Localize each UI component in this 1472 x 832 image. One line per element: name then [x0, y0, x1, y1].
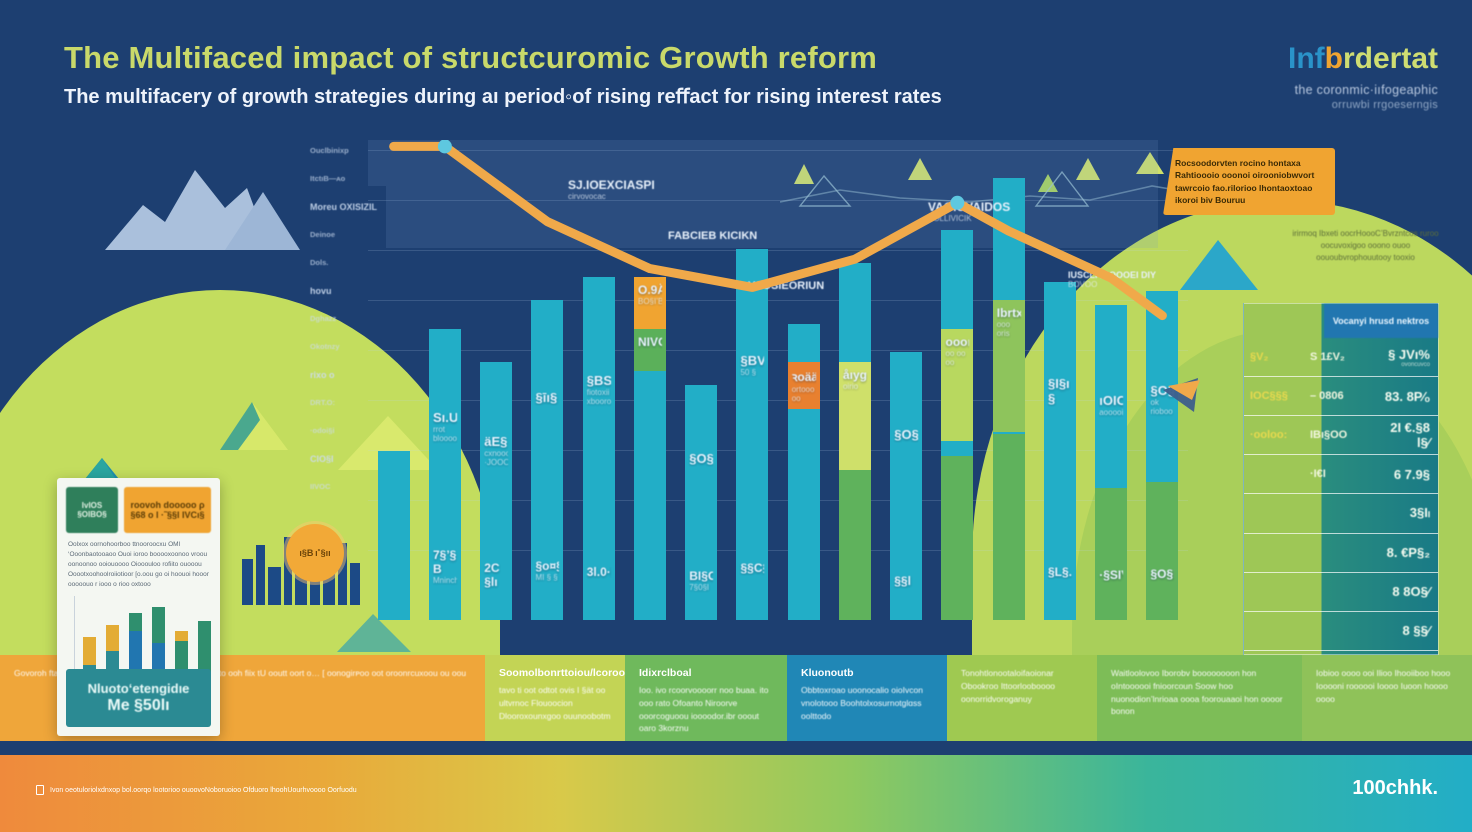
- table-cell-3: 8 §§⁄: [1374, 623, 1438, 638]
- table-cell-1: ·ooloo:: [1244, 429, 1310, 441]
- trend-marker: [950, 196, 964, 210]
- callout-text: Rocsoodorvten rocino hontaxa Rahtioooio …: [1175, 158, 1314, 205]
- flag-mountain-icon: [210, 380, 330, 460]
- trend-line-series: [368, 60, 1188, 620]
- panel-green3[interactable]: Iobioo oooo ooi Ilioo Ihooiiboo hooo Ioo…: [1302, 655, 1472, 755]
- panel-body: Tonohtlonootaloifaoionar Obookroo Ittoor…: [961, 667, 1083, 705]
- card-badge-primary: IvIOS §OIBO§: [66, 487, 118, 533]
- y-axis-label: CIO§I: [310, 454, 334, 464]
- mini-bar: [106, 625, 119, 673]
- y-axis-label: Ouclbinixp: [310, 146, 349, 155]
- table-cell-3: 3§Iₗ: [1374, 505, 1438, 521]
- y-axis-label: ·odoi§i: [310, 426, 335, 435]
- card-description: Oolxox oornohoorboo ttnooroocxu OMl ‘Ooo…: [68, 540, 209, 590]
- table-cell-2: ·I€I: [1310, 468, 1374, 480]
- table-cell-1: §V₂: [1244, 351, 1310, 363]
- table-row[interactable]: ·I€I6 7.9§: [1244, 455, 1438, 494]
- card-footer-stat: Nluoto‘etengidıe Me §50lı: [66, 669, 211, 727]
- mini-bar: [129, 613, 142, 673]
- logo-wordmark: Infbrdertat: [1288, 44, 1438, 74]
- trend-marker: [438, 139, 452, 153]
- table-row[interactable]: 8. €P§₂: [1244, 534, 1438, 573]
- document-icon: [36, 785, 44, 795]
- footer-divider: [0, 741, 1472, 755]
- panel-yellow[interactable]: Soomolbonrttoiou/lcorooutavo ti oot odto…: [485, 655, 625, 755]
- panel-title: Soomolbonrttoiou/lcoroou: [499, 667, 611, 679]
- y-axis-label: rixo o: [310, 370, 335, 380]
- footer-source: Ivon oeotuloriolxdnxop bol.oorqo lootori…: [36, 785, 357, 795]
- table-cell-3: 6 7.9§: [1374, 467, 1438, 482]
- table-row[interactable]: ·ooloo:IBı§OO2I €.§8 l§⁄: [1244, 416, 1438, 455]
- y-axis-label: Okotnzy: [310, 342, 340, 351]
- panel-body: tavo ti oot odtot ovis I §ät oo ultvrnoc…: [499, 684, 611, 722]
- card-footer-line2: Me §50lı: [107, 697, 169, 715]
- logo-tagline-2: orruwbi rrgoeserngis: [1288, 99, 1438, 111]
- mini-bar: [198, 621, 211, 673]
- y-axis-label: Deinoe: [310, 230, 335, 239]
- right-note: irirmoq Ibxeti oocrHoooC’Bvrzntcos ruroo…: [1288, 228, 1443, 264]
- stat-card[interactable]: IvIOS §OIBO§ roovoh dooooo ρ §68 ο l ·˜§…: [57, 478, 220, 736]
- panel-body: Waitloolovoo Iborobv boooooooon hon oInt…: [1111, 667, 1288, 718]
- panel-body: Ioo. ivo rcoorvoooorr noo buaa. ito ooo …: [639, 684, 773, 735]
- callout-box[interactable]: Rocsoodorvten rocino hontaxa Rahtioooio …: [1163, 148, 1335, 215]
- mountain-right-icon: [1170, 220, 1290, 300]
- logo-part-a: Inf: [1288, 42, 1325, 75]
- right-note-text: irirmoq Ibxeti oocrHoooC’Bvrzntcos ruroo…: [1292, 229, 1438, 262]
- table-header: Vocanyi hrusd nektros: [1324, 304, 1438, 338]
- panel-title: Kluonoutb: [801, 667, 933, 679]
- logo-part-c: rdertat: [1343, 42, 1438, 75]
- y-axis-label: Dghazz: [310, 314, 336, 323]
- panel-blue[interactable]: KluonoutbObbtoxroao uoonocalio oioIvcon …: [787, 655, 947, 755]
- table-row[interactable]: 8 8O§⁄: [1244, 573, 1438, 612]
- mountain-range-icon: [95, 150, 345, 260]
- table-row[interactable]: 8 §§⁄: [1244, 612, 1438, 651]
- coin-badge[interactable]: ı§B ı˚§ıı: [286, 524, 344, 582]
- table-cell-1: IOC§§§: [1244, 390, 1310, 402]
- infographic-canvas: The Multifaced impact of structcuromic G…: [0, 0, 1472, 832]
- panel-green[interactable]: IdixrclboalIoo. ivo rcoorvoooorr noo bua…: [625, 655, 787, 755]
- panel-lime[interactable]: Tonohtlonootaloifaoionar Obookroo Ittoor…: [947, 655, 1097, 755]
- panel-green2[interactable]: Waitloolovoo Iborobv boooooooon hon oInt…: [1097, 655, 1302, 755]
- table-cell-2: S 1£V₂: [1310, 351, 1374, 363]
- table-cell-2: – 0806: [1310, 390, 1374, 402]
- page-subtitle: The multifacery of growth strategies dur…: [64, 84, 942, 109]
- card-footer-line1: Nluoto‘etengidıe: [88, 681, 190, 696]
- table-row[interactable]: 3§Iₗ: [1244, 494, 1438, 533]
- table-row[interactable]: IOC§§§– 080683. 8P⁄ₒ: [1244, 377, 1438, 416]
- footer-bar: Ivon oeotuloriolxdnxop bol.oorqo lootori…: [0, 755, 1472, 832]
- table-cell-3: 8 8O§⁄: [1374, 584, 1438, 599]
- panel-body: Iobioo oooo ooi Ilioo Ihooiiboo hooo Ioo…: [1316, 667, 1458, 705]
- card-badges: IvIOS §OIBO§ roovoh dooooo ρ §68 ο l ·˜§…: [66, 487, 211, 533]
- table-cell-3: 83. 8P⁄ₒ: [1374, 389, 1438, 404]
- data-table[interactable]: Vocanyi hrusd nektros §V₂S 1£V₂§ JVı%ovo…: [1243, 303, 1439, 655]
- table-row[interactable]: §V₂S 1£V₂§ JVı%ovoncuvco: [1244, 338, 1438, 377]
- header-bar: The Multifaced impact of structcuromic G…: [0, 0, 1472, 140]
- logo-part-b: b: [1325, 42, 1343, 75]
- footer-logo[interactable]: 100chhk.: [1352, 777, 1438, 800]
- table-cell-2: IBı§OO: [1310, 429, 1374, 441]
- y-axis-label: Dols.: [310, 258, 328, 267]
- footer-source-text: Ivon oeotuloriolxdnxop bol.oorqo lootori…: [50, 787, 357, 794]
- table-cell-3: § JVı%ovoncuvco: [1374, 347, 1438, 368]
- y-axis-label: IIVOC: [310, 482, 330, 491]
- main-chart: IbstveppOuclbinixpItctıB—ᴀᴏMoreu OXISIZI…: [368, 60, 1188, 620]
- brand-logo[interactable]: Infbrdertat the coronmic·iıfogeaphic orr…: [1288, 44, 1438, 111]
- coin-label: ı§B ı˚§ıı: [299, 548, 330, 559]
- mini-bar: [175, 631, 188, 673]
- logo-tagline-1: the coronmic·iıfogeaphic: [1288, 83, 1438, 97]
- table-cell-3: 2I €.§8 l§⁄: [1374, 420, 1438, 450]
- summary-panels: Govoroh ftav Tbaoltaoytun ootvtoTooroa t…: [0, 655, 1472, 755]
- card-badge-secondary: roovoh dooooo ρ §68 ο l ·˜§§l IVCı§: [124, 487, 211, 533]
- panel-body: Obbtoxroao uoonocalio oioIvcon vnolotooo…: [801, 684, 933, 722]
- y-axis-label: Moreu OXISIZIL: [310, 202, 377, 212]
- card-mini-chart: [74, 596, 207, 674]
- table-cell-3: 8. €P§₂: [1374, 545, 1438, 560]
- y-axis-label: ItctıB—ᴀᴏ: [310, 174, 345, 183]
- panel-title: Idixrclboal: [639, 667, 773, 679]
- mini-bar: [152, 607, 165, 673]
- y-axis-label: hovu: [310, 286, 332, 296]
- y-axis-label: DRT.O:: [310, 398, 335, 407]
- page-title: The Multifaced impact of structcuromic G…: [64, 40, 877, 76]
- mini-bar: [83, 637, 96, 673]
